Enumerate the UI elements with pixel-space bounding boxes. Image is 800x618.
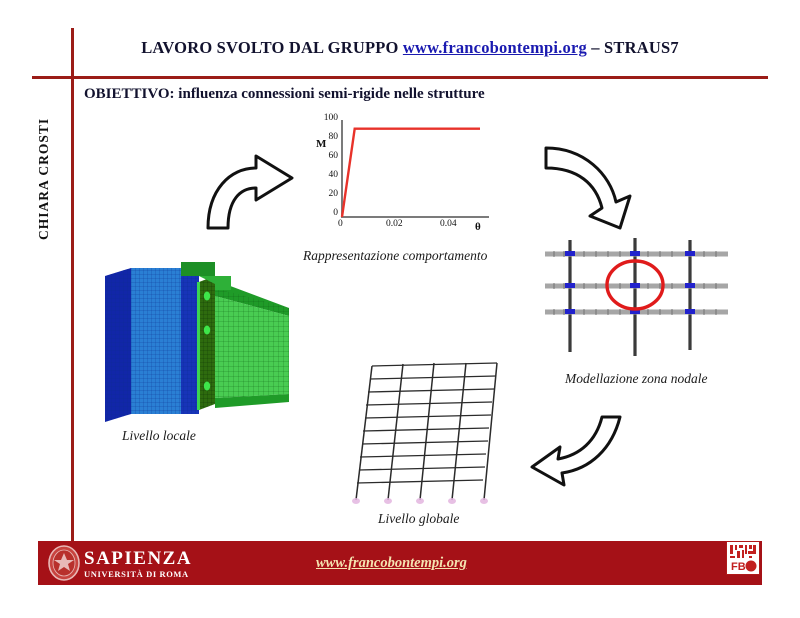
fbo-logo-text: FB bbox=[731, 561, 746, 573]
university-subtitle: UNIVERSITÀ DI ROMA bbox=[84, 569, 192, 579]
slide-subtitle: OBIETTIVO: influenza connessioni semi-ri… bbox=[84, 86, 485, 103]
vertical-rule bbox=[71, 28, 74, 550]
caption-graph: Rappresentazione comportamento bbox=[303, 248, 487, 264]
fbo-logo: FB bbox=[726, 541, 760, 575]
caption-local: Livello locale bbox=[122, 428, 196, 444]
moment-rotation-chart: M θ 100 80 60 40 20 0 0 0.02 0.04 bbox=[300, 118, 492, 240]
footer-link[interactable]: www.francobontempi.org bbox=[316, 555, 467, 572]
flow-arrow-up-right bbox=[200, 148, 300, 238]
caption-global: Livello globale bbox=[378, 511, 459, 527]
page-title-suffix: – STRAUS7 bbox=[587, 38, 679, 57]
university-name: SAPIENZA bbox=[84, 549, 192, 568]
horizontal-rule bbox=[32, 76, 768, 79]
caption-node: Modellazione zona nodale bbox=[565, 371, 707, 387]
global-frame-beams bbox=[357, 363, 497, 483]
flow-arrow-down-left bbox=[528, 415, 628, 500]
chart-plot-area bbox=[300, 118, 492, 240]
local-fem-mesh-image bbox=[103, 246, 303, 424]
flow-arrow-down-right bbox=[540, 140, 640, 235]
author-label: CHIARA CROSTI bbox=[36, 60, 52, 240]
global-frame-columns bbox=[356, 363, 497, 500]
node-zone-model-image bbox=[540, 238, 740, 356]
sapienza-wordmark: SAPIENZA UNIVERSITÀ DI ROMA bbox=[84, 549, 192, 579]
page-title: LAVORO SVOLTO DAL GRUPPO www.francobonte… bbox=[100, 38, 720, 58]
global-frame-image bbox=[340, 358, 525, 508]
chart-series-line bbox=[342, 129, 480, 217]
global-frame-supports bbox=[352, 498, 488, 504]
page-title-prefix: LAVORO SVOLTO DAL GRUPPO bbox=[141, 38, 403, 57]
header-link[interactable]: www.francobontempi.org bbox=[403, 38, 587, 57]
slide: LAVORO SVOLTO DAL GRUPPO www.francobonte… bbox=[0, 0, 800, 618]
